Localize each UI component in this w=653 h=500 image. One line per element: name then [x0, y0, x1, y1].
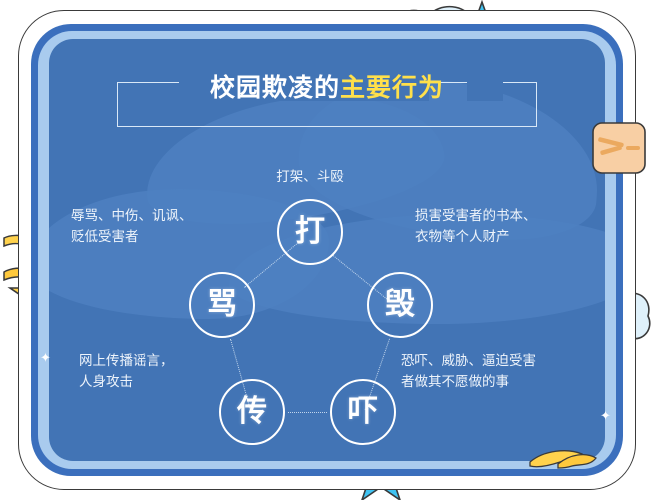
title-plain-part: 校园欺凌的: [210, 73, 340, 102]
node-xia[interactable]: 吓: [330, 379, 396, 445]
node-hui-label: 毁: [385, 290, 415, 320]
node-ma[interactable]: 骂: [189, 272, 255, 338]
notepad-right-icon: [592, 122, 646, 174]
caption-right-lower: 恐吓、威胁、逼迫受害 者做其不愿做的事: [401, 351, 571, 393]
title-emphasis-part: 主要行为: [340, 73, 444, 102]
page-title: 校园欺凌的主要行为: [117, 73, 537, 103]
poster-main-panel: 校园欺凌的主要行为 打 骂 毁 传 吓 打架、斗殴 辱骂、中伤、讥讽、 贬低受害…: [49, 39, 605, 461]
poster-canvas: 校园欺凌的主要行为 打 骂 毁 传 吓 打架、斗殴 辱骂、中伤、讥讽、 贬低受害…: [0, 0, 653, 500]
banana-bottom-right-icon: [528, 446, 598, 472]
node-hui[interactable]: 毁: [367, 272, 433, 338]
node-da[interactable]: 打: [277, 199, 343, 265]
caption-left-lower: 网上传播谣言， 人身攻击: [79, 351, 229, 393]
caption-left-upper: 辱骂、中伤、讥讽、 贬低受害者: [71, 206, 221, 248]
caption-right-upper: 损害受害者的书本、 衣物等个人财产: [415, 206, 575, 248]
mini-star-left-icon: ✦: [40, 352, 51, 365]
node-ma-label: 骂: [207, 290, 237, 320]
caption-top: 打架、斗殴: [245, 167, 375, 188]
node-da-label: 打: [295, 217, 325, 247]
node-chuan-label: 传: [237, 397, 267, 427]
node-xia-label: 吓: [348, 397, 378, 427]
edge-chuan-xia: [288, 412, 327, 413]
mini-star-bottom-right-icon: ✦: [600, 410, 611, 423]
poster-title-block: 校园欺凌的主要行为: [117, 73, 537, 127]
